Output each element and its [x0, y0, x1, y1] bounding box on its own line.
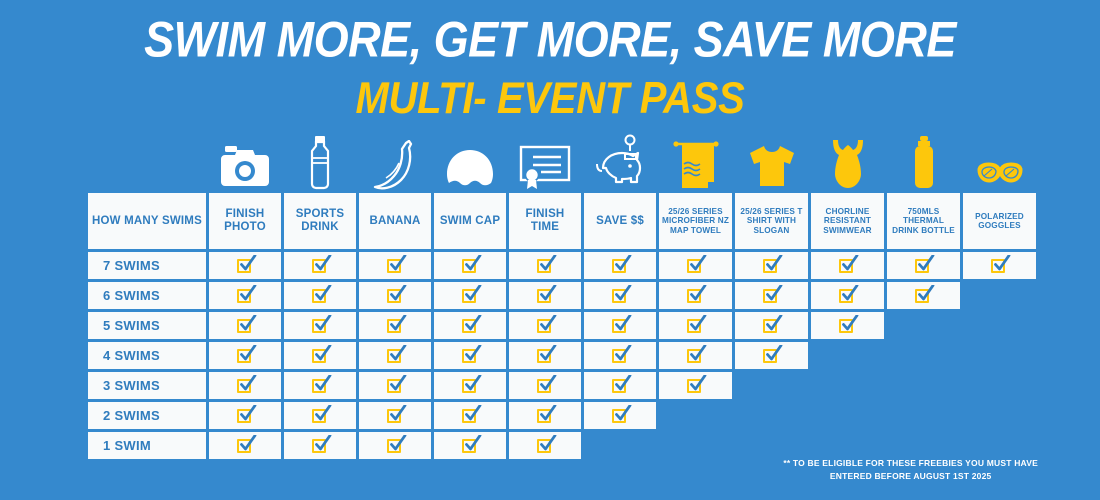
check-icon [237, 377, 254, 394]
table-row: 5 SWIMS [88, 312, 1013, 339]
checkbox-cell[interactable] [659, 342, 732, 369]
check-icon [687, 377, 704, 394]
check-icon [537, 377, 554, 394]
checkbox-cell[interactable] [434, 432, 506, 459]
empty-cell [887, 312, 960, 339]
check-icon [612, 257, 629, 274]
empty-cell [963, 312, 1036, 339]
column-header-goggles: POLARIZED GOGGLES [963, 193, 1036, 249]
check-icon [537, 347, 554, 364]
empty-cell [887, 342, 960, 369]
checkbox-cell[interactable] [209, 342, 281, 369]
checkbox-cell[interactable] [509, 312, 581, 339]
empty-cell [963, 342, 1036, 369]
checkbox-cell[interactable] [359, 282, 431, 309]
check-icon [687, 347, 704, 364]
check-icon [312, 377, 329, 394]
empty-cell [735, 372, 808, 399]
check-icon [462, 287, 479, 304]
checkbox-cell[interactable] [963, 252, 1036, 279]
checkbox-cell[interactable] [584, 372, 656, 399]
check-icon [612, 347, 629, 364]
check-icon [462, 317, 479, 334]
checkbox-cell[interactable] [284, 432, 356, 459]
checkbox-cell[interactable] [584, 402, 656, 429]
water-bottle-icon [284, 128, 356, 190]
check-icon [537, 317, 554, 334]
check-icon [687, 317, 704, 334]
checkbox-cell[interactable] [209, 402, 281, 429]
checkbox-cell[interactable] [584, 282, 656, 309]
check-icon [462, 437, 479, 454]
column-header-drink-bottle: 750MLS THERMAL DRINK BOTTLE [887, 193, 960, 249]
check-icon [387, 407, 404, 424]
row-label-3-swims: 3 SWIMS [88, 372, 206, 399]
check-icon [612, 317, 629, 334]
check-icon [763, 317, 780, 334]
empty-cell [735, 432, 808, 459]
checkbox-cell[interactable] [284, 372, 356, 399]
checkbox-cell[interactable] [811, 282, 884, 309]
piggy-bank-icon [584, 128, 656, 190]
footnote-line-2: ENTERED BEFORE AUGUST 1ST 2025 [783, 470, 1038, 482]
check-icon [839, 257, 856, 274]
checkbox-cell[interactable] [659, 252, 732, 279]
check-icon [839, 317, 856, 334]
camera-icon [209, 128, 281, 190]
drink-bottle-icon [887, 128, 960, 190]
check-icon [387, 257, 404, 274]
page-title: SWIM MORE, GET MORE, SAVE MORE MULTI- EV… [0, 0, 1100, 117]
table-row: 3 SWIMS [88, 372, 1013, 399]
empty-cell [811, 342, 884, 369]
check-icon [462, 347, 479, 364]
checkbox-cell[interactable] [359, 312, 431, 339]
check-icon [387, 437, 404, 454]
check-icon [763, 347, 780, 364]
check-icon [387, 377, 404, 394]
checkbox-cell[interactable] [811, 252, 884, 279]
checkbox-cell[interactable] [735, 312, 808, 339]
table-row: 4 SWIMS [88, 342, 1013, 369]
empty-cell [963, 432, 1036, 459]
column-header-finish-time: FINISH TIME [509, 193, 581, 249]
checkbox-cell[interactable] [659, 282, 732, 309]
checkbox-cell[interactable] [284, 402, 356, 429]
check-icon [839, 287, 856, 304]
check-icon [763, 287, 780, 304]
empty-cell [584, 432, 656, 459]
check-icon [537, 437, 554, 454]
check-icon [612, 287, 629, 304]
empty-cell [811, 432, 884, 459]
empty-cell [887, 372, 960, 399]
row-label-5-swims: 5 SWIMS [88, 312, 206, 339]
check-icon [537, 257, 554, 274]
checkbox-cell[interactable] [811, 312, 884, 339]
check-icon [312, 437, 329, 454]
check-icon [312, 407, 329, 424]
checkbox-cell[interactable] [209, 432, 281, 459]
checkbox-cell[interactable] [509, 342, 581, 369]
table-row: 6 SWIMS [88, 282, 1013, 309]
empty-cell [963, 372, 1036, 399]
checkbox-cell[interactable] [659, 312, 732, 339]
eligibility-footnote: ** TO BE ELIGIBLE FOR THESE FREEBIES YOU… [783, 457, 1038, 482]
checkbox-cell[interactable] [887, 252, 960, 279]
check-icon [687, 257, 704, 274]
empty-cell [887, 432, 960, 459]
check-icon [462, 377, 479, 394]
checkbox-cell[interactable] [209, 312, 281, 339]
check-icon [687, 287, 704, 304]
checkbox-cell[interactable] [359, 402, 431, 429]
empty-cell [963, 402, 1036, 429]
goggles-icon [963, 128, 1036, 190]
check-icon [991, 257, 1008, 274]
check-icon [462, 257, 479, 274]
checkbox-cell[interactable] [434, 372, 506, 399]
check-icon [312, 317, 329, 334]
table-row: 1 SWIM [88, 432, 1013, 459]
check-icon [237, 437, 254, 454]
column-header-swimwear: CHORLINE RESISTANT SWIMWEAR [811, 193, 884, 249]
certificate-icon [509, 128, 581, 190]
title-line-1: SWIM MORE, GET MORE, SAVE MORE [0, 14, 1100, 66]
table-body: 7 SWIMS6 SWIMS5 SWIMS4 SWIMS3 SWIMS2 SWI… [88, 252, 1013, 459]
check-icon [387, 287, 404, 304]
column-header-tshirt: 25/26 SERIES T SHIRT WITH SLOGAN [735, 193, 808, 249]
swimsuit-icon [811, 128, 884, 190]
checkbox-cell[interactable] [359, 342, 431, 369]
checkbox-cell[interactable] [735, 282, 808, 309]
checkbox-cell[interactable] [359, 372, 431, 399]
check-icon [537, 407, 554, 424]
column-header-sports-drink: SPORTS DRINK [284, 193, 356, 249]
column-header-towel: 25/26 SERIES MICROFIBER NZ MAP TOWEL [659, 193, 732, 249]
checkbox-cell[interactable] [659, 372, 732, 399]
checkbox-cell[interactable] [509, 372, 581, 399]
check-icon [237, 407, 254, 424]
checkbox-cell[interactable] [209, 282, 281, 309]
table-header-row: HOW MANY SWIMS FINISH PHOTO SPORTS DRINK… [88, 193, 1013, 249]
towel-icon [659, 128, 732, 190]
checkbox-cell[interactable] [209, 372, 281, 399]
row-label-1-swim: 1 SWIM [88, 432, 206, 459]
row-label-4-swims: 4 SWIMS [88, 342, 206, 369]
checkbox-cell[interactable] [284, 312, 356, 339]
empty-cell [963, 282, 1036, 309]
empty-cell [887, 402, 960, 429]
checkbox-cell[interactable] [284, 342, 356, 369]
checkbox-cell[interactable] [434, 402, 506, 429]
check-icon [387, 317, 404, 334]
checkbox-cell[interactable] [359, 252, 431, 279]
row-label-2-swims: 2 SWIMS [88, 402, 206, 429]
empty-cell [659, 402, 732, 429]
check-icon [915, 257, 932, 274]
checkbox-cell[interactable] [584, 342, 656, 369]
check-icon [462, 407, 479, 424]
check-icon [237, 317, 254, 334]
tshirt-icon [735, 128, 808, 190]
footnote-line-1: ** TO BE ELIGIBLE FOR THESE FREEBIES YOU… [783, 457, 1038, 469]
checkbox-cell[interactable] [434, 312, 506, 339]
checkbox-cell[interactable] [284, 252, 356, 279]
checkbox-cell[interactable] [584, 252, 656, 279]
benefits-table: HOW MANY SWIMS FINISH PHOTO SPORTS DRINK… [88, 128, 1013, 462]
empty-cell [811, 402, 884, 429]
row-label-6-swims: 6 SWIMS [88, 282, 206, 309]
check-icon [237, 257, 254, 274]
checkbox-cell[interactable] [434, 252, 506, 279]
column-header-save: SAVE $$ [584, 193, 656, 249]
row-label-7-swims: 7 SWIMS [88, 252, 206, 279]
checkbox-cell[interactable] [509, 252, 581, 279]
empty-cell [735, 402, 808, 429]
checkbox-cell[interactable] [735, 252, 808, 279]
icon-placeholder [88, 128, 206, 190]
check-icon [537, 287, 554, 304]
checkbox-cell[interactable] [209, 252, 281, 279]
swim-cap-icon [434, 128, 506, 190]
checkbox-cell[interactable] [434, 342, 506, 369]
check-icon [312, 287, 329, 304]
checkbox-cell[interactable] [887, 282, 960, 309]
check-icon [763, 257, 780, 274]
empty-cell [811, 372, 884, 399]
icon-row [88, 128, 1013, 190]
checkbox-cell[interactable] [509, 402, 581, 429]
checkbox-cell[interactable] [284, 282, 356, 309]
column-header-how-many-swims: HOW MANY SWIMS [88, 193, 206, 249]
check-icon [312, 257, 329, 274]
checkbox-cell[interactable] [735, 342, 808, 369]
check-icon [387, 347, 404, 364]
table-row: 2 SWIMS [88, 402, 1013, 429]
column-header-banana: BANANA [359, 193, 431, 249]
check-icon [237, 347, 254, 364]
check-icon [612, 377, 629, 394]
checkbox-cell[interactable] [359, 432, 431, 459]
column-header-swim-cap: SWIM CAP [434, 193, 506, 249]
check-icon [237, 287, 254, 304]
checkbox-cell[interactable] [509, 282, 581, 309]
check-icon [612, 407, 629, 424]
banana-icon [359, 128, 431, 190]
empty-cell [659, 432, 732, 459]
table-row: 7 SWIMS [88, 252, 1013, 279]
column-header-finish-photo: FINISH PHOTO [209, 193, 281, 249]
title-line-2: MULTI- EVENT PASS [0, 75, 1100, 122]
checkbox-cell[interactable] [509, 432, 581, 459]
check-icon [915, 287, 932, 304]
check-icon [312, 347, 329, 364]
checkbox-cell[interactable] [434, 282, 506, 309]
checkbox-cell[interactable] [584, 312, 656, 339]
